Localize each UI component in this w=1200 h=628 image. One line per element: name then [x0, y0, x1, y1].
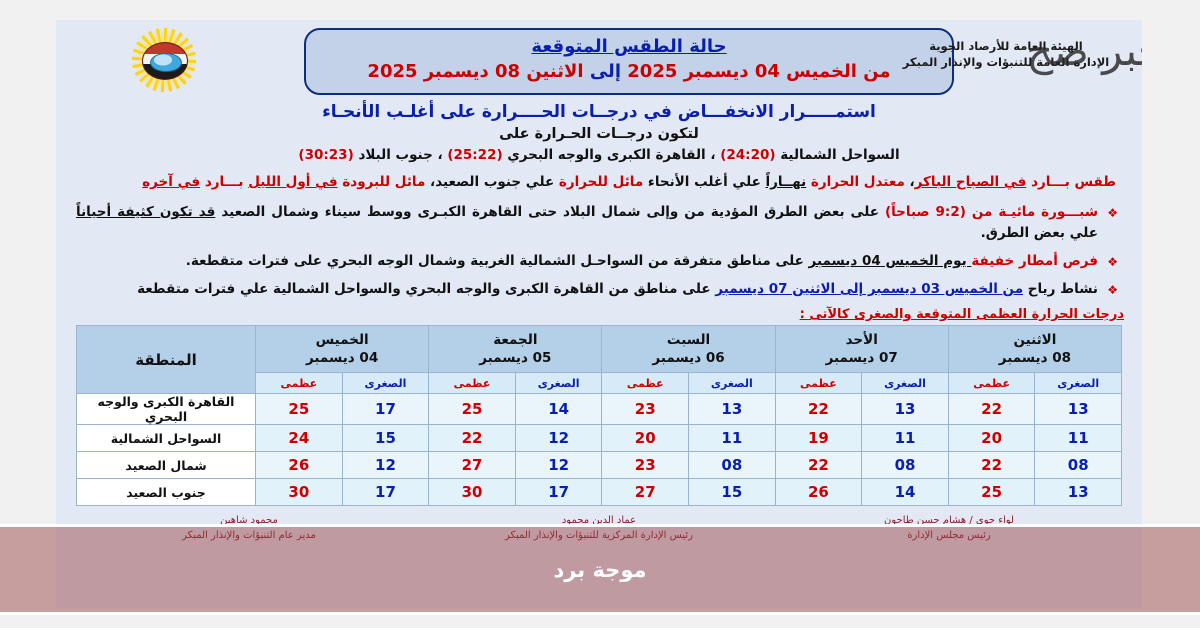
bullet-3-part-1: نشاط رياح — [1023, 281, 1098, 297]
title-box: حالة الطقس المتوقعة من الخميس 04 ديسمبر … — [304, 28, 954, 95]
diamond-bullet-icon: ❖ — [1107, 280, 1118, 301]
region-column-header: المنطقة — [77, 326, 256, 394]
day-header-4: الخميس 04 ديسمبر — [256, 326, 429, 373]
cell-r0-d3-min: 14 — [515, 394, 602, 425]
region-name-2: شمال الصعيد — [77, 452, 256, 479]
footer-role-2: رئيس الإدارة المركزية للتنبؤات والإنذار … — [424, 528, 774, 543]
cell-r2-d2-min: 08 — [689, 452, 776, 479]
cell-r0-d4-min: 17 — [342, 394, 429, 425]
day-header-3: الجمعة 05 ديسمبر — [429, 326, 602, 373]
cell-r1-d3-min: 12 — [515, 425, 602, 452]
list-item: ❖ فرص أمطار خفيفة يوم الخميس 04 ديسمبر ع… — [76, 251, 1118, 272]
coast-label: السواحل الشمالية — [780, 147, 899, 163]
cell-r2-d4-min: 12 — [342, 452, 429, 479]
cell-r0-d4-max: 25 — [256, 394, 343, 425]
bullet-2-part-3: على مناطق متفرقة من السواحـل الشمالية ال… — [186, 253, 809, 269]
cell-r2-d0-min: 08 — [1035, 452, 1122, 479]
desc-part-11: بـــارد — [200, 174, 248, 190]
day-date-1: 07 ديسمبر — [776, 349, 948, 367]
region-name-0: القاهرة الكبرى والوجه البحري — [77, 394, 256, 425]
day-header-0: الاثنين 08 ديسمبر — [948, 326, 1121, 373]
south-label: ، جنوب البلاد — [358, 147, 442, 163]
cell-r0-d3-max: 25 — [429, 394, 516, 425]
max-header-4: عظمى — [256, 373, 343, 394]
cell-r2-d3-max: 27 — [429, 452, 516, 479]
day-date-3: 05 ديسمبر — [429, 349, 601, 367]
cell-r1-d0-min: 11 — [1035, 425, 1122, 452]
max-header-0: عظمى — [948, 373, 1035, 394]
day-name-1: الأحد — [776, 331, 948, 349]
subheadline: لتكون درجــات الحـرارة على — [56, 124, 1142, 145]
min-header-3: الصغرى — [515, 373, 602, 394]
cell-r2-d3-min: 12 — [515, 452, 602, 479]
table-header: الاثنين 08 ديسمبر الأحد 07 ديسمبر السبت … — [77, 326, 1122, 394]
table-row: 13 22 13 22 13 23 14 25 17 25 القاهرة ال… — [77, 394, 1122, 425]
footer-signature-3: لواء جوى / هشام حسن طاحون رئيس مجلس الإد… — [774, 513, 1124, 543]
bullet-1-part-4: علي بعض الطرق. — [981, 225, 1098, 241]
south-range: (30:23) — [298, 147, 353, 163]
desc-part-5: نهــاراً — [766, 174, 807, 190]
max-header-2: عظمى — [602, 373, 689, 394]
to-date: الاثنين 08 ديسمبر 2025 — [367, 61, 583, 82]
list-item: ❖ شبـــورة مائيـة من (9:2 صباحاً) على بع… — [76, 202, 1118, 244]
day-name-2: السبت — [602, 331, 774, 349]
cell-r0-d1-min: 13 — [862, 394, 949, 425]
footer-name-3: لواء جوى / هشام حسن طاحون — [774, 513, 1124, 528]
cairo-range: (25:22) — [447, 147, 502, 163]
bullet-2-part-1: فرص أمطار خفيفة — [971, 253, 1098, 269]
organization-name: الهيئة العامة للأرصاد الجوية الإدارة الع… — [870, 38, 1142, 70]
table-row: 08 22 08 22 08 23 12 27 12 26 شمال الصعي… — [77, 452, 1122, 479]
diamond-bullet-icon: ❖ — [1107, 252, 1118, 273]
desc-part-8: علي جنوب الصعيد، — [425, 174, 554, 190]
table-header-row-days: الاثنين 08 ديسمبر الأحد 07 ديسمبر السبت … — [77, 326, 1122, 373]
cell-r0-d2-max: 23 — [602, 394, 689, 425]
cell-r2-d1-min: 08 — [862, 452, 949, 479]
cell-r3-d1-min: 14 — [862, 479, 949, 506]
min-header-4: الصغرى — [342, 373, 429, 394]
desc-part-12: في آخره — [142, 174, 200, 190]
region-name-3: جنوب الصعيد — [77, 479, 256, 506]
desc-part-7: مائل للحرارة — [559, 174, 643, 190]
diamond-bullet-icon: ❖ — [1107, 203, 1118, 224]
ema-sun-logo-icon — [121, 28, 207, 92]
bullet-1-part-2: على بعض الطرق المؤدية من وإلى شمال البلا… — [215, 204, 885, 220]
bullet-3-part-2: من الخميس 03 ديسمبر إلى الاثنين 07 ديسمب… — [715, 281, 1023, 297]
logo-globe-icon — [150, 53, 182, 72]
desc-part-4: معتدل الحرارة — [811, 174, 905, 190]
min-header-2: الصغرى — [689, 373, 776, 394]
bullet-2-part-2: يوم الخميس 04 ديسمبر — [809, 253, 972, 269]
day-name-3: الجمعة — [429, 331, 601, 349]
day-date-2: 06 ديسمبر — [602, 349, 774, 367]
org-line-2: الإدارة العامة للتنبؤات والإنذار المبكر — [870, 54, 1142, 70]
day-header-1: الأحد 07 ديسمبر — [775, 326, 948, 373]
footer-signature-2: عماد الدين محمود رئيس الإدارة المركزية ل… — [424, 513, 774, 543]
cairo-label: ، القاهرة الكبرى والوجه البحري — [507, 147, 715, 163]
weather-description: طقس بـــارد في الصباح الباكر، معتدل الحر… — [78, 172, 1116, 193]
cell-r3-d2-min: 15 — [689, 479, 776, 506]
logo-flag-disc-icon — [142, 42, 188, 80]
cell-r2-d4-max: 26 — [256, 452, 343, 479]
org-line-1: الهيئة العامة للأرصاد الجوية — [870, 38, 1142, 54]
day-date-4: 04 ديسمبر — [256, 349, 428, 367]
cell-r3-d0-min: 13 — [1035, 479, 1122, 506]
poster-header: حالة الطقس المتوقعة من الخميس 04 ديسمبر … — [56, 20, 1142, 98]
cell-r3-d0-max: 25 — [948, 479, 1035, 506]
bullet-3-part-3: على مناطق من القاهرة الكبرى والوجه البحر… — [137, 281, 715, 297]
desc-part-1: طقس بـــارد — [1031, 174, 1116, 190]
table-body: 13 22 13 22 13 23 14 25 17 25 القاهرة ال… — [77, 394, 1122, 506]
cell-r2-d0-max: 22 — [948, 452, 1035, 479]
footer-name-2: عماد الدين محمود — [424, 513, 774, 528]
headline: استمـــــرار الانخفـــاض في درجــات الحـ… — [56, 100, 1142, 124]
min-header-0: الصغرى — [1035, 373, 1122, 394]
date-range: من الخميس 04 ديسمبر 2025 إلى الاثنين 08 … — [316, 59, 942, 85]
cell-r1-d1-min: 11 — [862, 425, 949, 452]
table-row: 11 20 11 19 11 20 12 22 15 24 السواحل ال… — [77, 425, 1122, 452]
cell-r1-d4-min: 15 — [342, 425, 429, 452]
table-row: 13 25 14 26 15 27 17 30 17 30 جنوب الصعي… — [77, 479, 1122, 506]
table-caption: درجات الحرارة العظمى المتوقعة والصغرى كا… — [56, 307, 1124, 322]
poster-footer: لواء جوى / هشام حسن طاحون رئيس مجلس الإد… — [74, 513, 1124, 543]
footer-name-1: محمود شاهين — [74, 513, 424, 528]
cell-r2-d2-max: 23 — [602, 452, 689, 479]
day-name-4: الخميس — [256, 331, 428, 349]
cell-r0-d2-min: 13 — [689, 394, 776, 425]
footer-signature-1: محمود شاهين مدير عام التنبؤات والإنذار ا… — [74, 513, 424, 543]
cell-r3-d2-max: 27 — [602, 479, 689, 506]
footer-role-1: مدير عام التنبؤات والإنذار المبكر — [74, 528, 424, 543]
cell-r1-d3-max: 22 — [429, 425, 516, 452]
footer-role-3: رئيس مجلس الإدارة — [774, 528, 1124, 543]
max-header-3: عظمى — [429, 373, 516, 394]
cell-r1-d0-max: 20 — [948, 425, 1035, 452]
cell-r2-d1-max: 22 — [775, 452, 862, 479]
list-item: ❖ نشاط رياح من الخميس 03 ديسمبر إلى الاث… — [76, 279, 1118, 300]
desc-part-10: في أول الليل — [248, 174, 337, 190]
to-label: إلى — [590, 61, 621, 82]
temperature-ranges: السواحل الشمالية (24:20) ، القاهرة الكبر… — [56, 145, 1142, 166]
desc-part-3: ، — [905, 174, 915, 190]
cell-r3-d4-min: 17 — [342, 479, 429, 506]
forecast-table-wrapper: الاثنين 08 ديسمبر الأحد 07 ديسمبر السبت … — [76, 325, 1122, 506]
from-date: الخميس 04 ديسمبر 2025 — [627, 61, 857, 82]
bullet-1-part-3: قد تكون كثيفة أحياناً — [76, 204, 215, 220]
forecast-poster: حالة الطقس المتوقعة من الخميس 04 ديسمبر … — [56, 20, 1142, 608]
cell-r3-d4-max: 30 — [256, 479, 343, 506]
cell-r1-d4-max: 24 — [256, 425, 343, 452]
cell-r3-d3-min: 17 — [515, 479, 602, 506]
desc-part-6: علي أغلب الأنحاء — [643, 174, 761, 190]
cell-r1-d2-min: 11 — [689, 425, 776, 452]
bullet-list: ❖ شبـــورة مائيـة من (9:2 صباحاً) على بع… — [76, 202, 1118, 300]
day-name-0: الاثنين — [949, 331, 1121, 349]
coast-range: (24:20) — [720, 147, 775, 163]
cell-r0-d1-max: 22 — [775, 394, 862, 425]
desc-part-9: مائل للبرودة — [342, 174, 425, 190]
page-title: حالة الطقس المتوقعة — [316, 35, 942, 59]
bullet-1-part-1: شبـــورة مائيـة من (9:2 صباحاً) — [885, 204, 1098, 220]
desc-part-2: في الصباح الباكر — [915, 174, 1027, 190]
day-date-0: 08 ديسمبر — [949, 349, 1121, 367]
cell-r3-d3-max: 30 — [429, 479, 516, 506]
region-name-1: السواحل الشمالية — [77, 425, 256, 452]
cell-r0-d0-min: 13 — [1035, 394, 1122, 425]
cell-r1-d2-max: 20 — [602, 425, 689, 452]
min-header-1: الصغرى — [862, 373, 949, 394]
cell-r3-d1-max: 26 — [775, 479, 862, 506]
cell-r1-d1-max: 19 — [775, 425, 862, 452]
max-header-1: عظمى — [775, 373, 862, 394]
day-header-2: السبت 06 ديسمبر — [602, 326, 775, 373]
forecast-table: الاثنين 08 ديسمبر الأحد 07 ديسمبر السبت … — [76, 325, 1122, 506]
cell-r0-d0-max: 22 — [948, 394, 1035, 425]
